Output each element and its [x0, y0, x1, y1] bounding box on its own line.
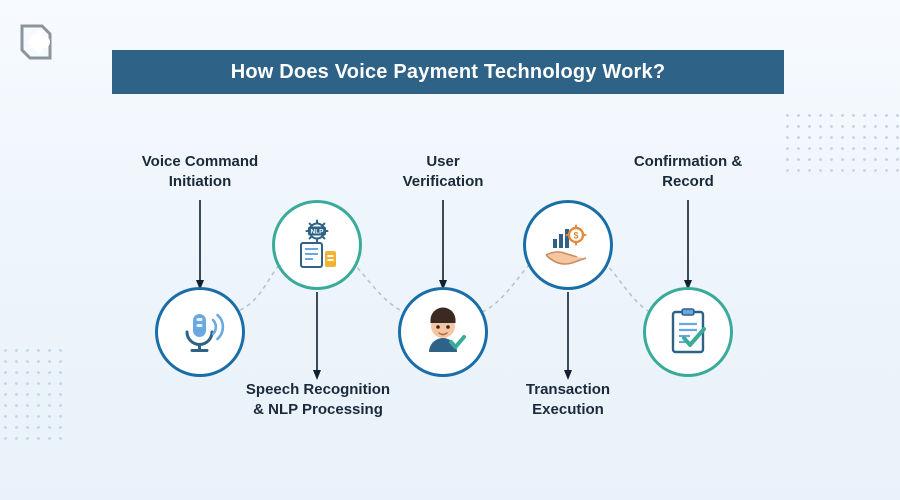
step-node-speech-recognition-nlp[interactable]: NLP: [272, 200, 362, 290]
step-node-user-verification[interactable]: [398, 287, 488, 377]
hand-payment-icon: $: [540, 217, 596, 273]
checked-document-icon: [660, 304, 716, 360]
page-title: How Does Voice Payment Technology Work?: [231, 61, 666, 84]
step-label-confirmation-record: Confirmation & Record: [598, 152, 778, 193]
step-label-user-verification: User Verification: [353, 152, 533, 193]
step-label-transaction-execution: Transaction Execution: [478, 380, 658, 421]
svg-text:$: $: [573, 231, 578, 241]
microphone-icon: [172, 304, 228, 360]
step-label-speech-recognition-nlp: Speech Recognition & NLP Processing: [222, 380, 414, 421]
svg-text:NLP: NLP: [311, 229, 325, 236]
decorative-dot-pattern-left: [0, 345, 62, 441]
verified-user-icon: [415, 304, 471, 360]
step-node-voice-command-initiation[interactable]: [155, 287, 245, 377]
decorative-dot-pattern-right: [782, 110, 900, 174]
infographic-canvas: How Does Voice Payment Technology Work?: [0, 0, 900, 500]
step-node-confirmation-record[interactable]: [643, 287, 733, 377]
step-node-transaction-execution[interactable]: $: [523, 200, 613, 290]
header-banner: How Does Voice Payment Technology Work?: [112, 50, 784, 94]
nlp-gear-document-icon: NLP: [289, 217, 345, 273]
step-label-voice-command-initiation: Voice Command Initiation: [100, 152, 300, 193]
company-logo-mark: [18, 22, 54, 62]
